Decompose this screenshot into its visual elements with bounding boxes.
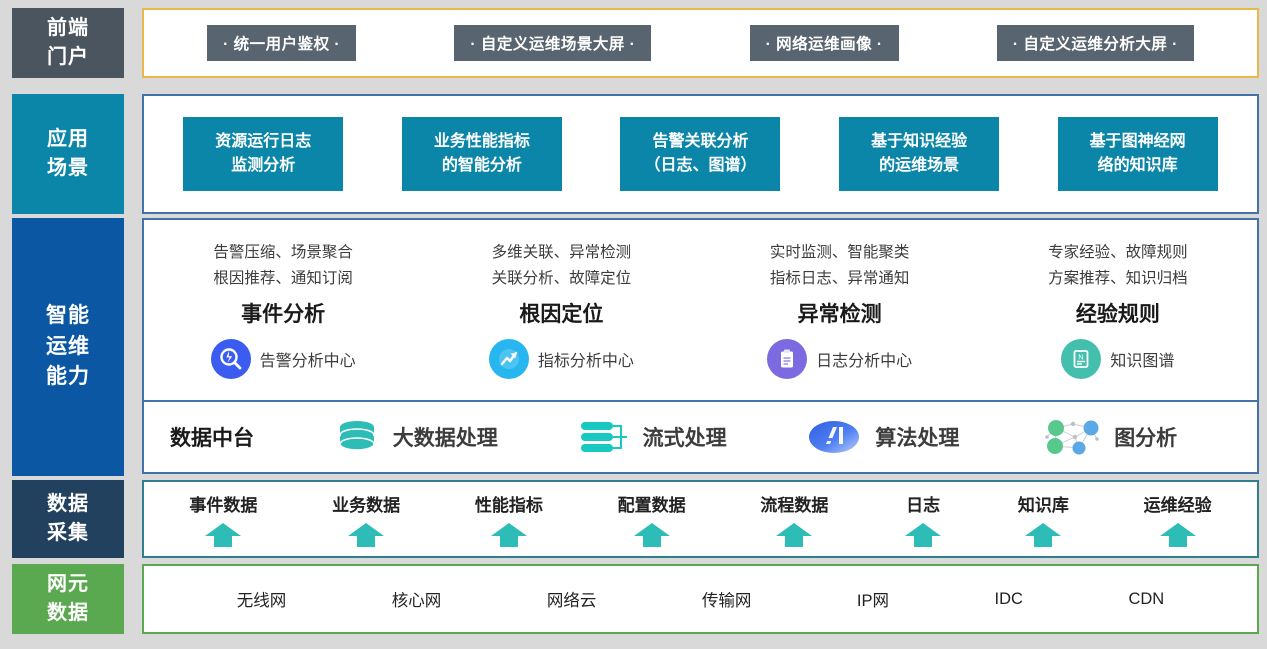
app-chip-resource-log[interactable]: 资源运行日志 监测分析 bbox=[183, 117, 343, 191]
collection-item-process-data-label: 流程数据 bbox=[760, 491, 828, 516]
network-element-label-line1: 网元 bbox=[47, 570, 89, 599]
ne-item-idc[interactable]: IDC bbox=[995, 590, 1023, 609]
up-arrow-icon bbox=[203, 522, 243, 548]
ai-icon bbox=[806, 417, 862, 457]
ops-col4-center-label: 知识图谱 bbox=[1110, 347, 1174, 371]
dmp-item-algorithm[interactable]: 算法处理 bbox=[806, 417, 959, 457]
ops-col4-title: 经验规则 bbox=[1076, 298, 1160, 328]
app-chip-resource-log-line1: 资源运行日志 bbox=[215, 130, 311, 154]
dmp-item-stream[interactable]: 流式处理 bbox=[578, 418, 727, 456]
data-middle-platform-title: 数据中台 bbox=[170, 422, 254, 452]
ops-col2-center[interactable]: 指标分析中心 bbox=[489, 339, 634, 379]
network-element-panel: 无线网 核心网 网络云 传输网 IP网 IDC CDN bbox=[142, 564, 1259, 634]
network-element-label-line2: 数据 bbox=[47, 599, 89, 628]
architecture-diagram: 前端 门户 · 统一用户鉴权 · · 自定义运维场景大屏 · · 网络运维画像 … bbox=[0, 0, 1267, 649]
stream-icon bbox=[578, 418, 630, 456]
data-collection-row: 数据 采集 事件数据 业务数据 性能指标 配置数据 流程数据 bbox=[12, 480, 1259, 558]
ops-col4-center[interactable]: N 知识图谱 bbox=[1061, 339, 1174, 379]
intelligent-ops-row: 智能 运维 能力 告警压缩、场景聚合 根因推荐、通知订阅 事件分析 bbox=[12, 218, 1259, 476]
ops-label-line3: 能力 bbox=[46, 362, 90, 392]
ops-col3-center[interactable]: 日志分析中心 bbox=[767, 339, 912, 379]
collection-item-knowledge-base-label: 知识库 bbox=[1018, 491, 1069, 516]
ne-item-ip-network[interactable]: IP网 bbox=[857, 587, 889, 611]
collection-item-business-data[interactable]: 业务数据 bbox=[332, 491, 400, 548]
up-arrow-icon bbox=[903, 522, 943, 548]
up-arrow-icon bbox=[632, 522, 672, 548]
log-analysis-icon bbox=[767, 339, 807, 379]
collection-item-business-data-label: 业务数据 bbox=[332, 491, 400, 516]
alert-analysis-icon bbox=[211, 339, 251, 379]
collection-item-ops-experience-label: 运维经验 bbox=[1144, 491, 1212, 516]
collection-label-line1: 数据 bbox=[47, 490, 89, 519]
up-arrow-icon bbox=[774, 522, 814, 548]
svg-text:N: N bbox=[1079, 353, 1084, 362]
front-portal-row: 前端 门户 · 统一用户鉴权 · · 自定义运维场景大屏 · · 网络运维画像 … bbox=[12, 8, 1259, 78]
up-arrow-icon bbox=[1023, 522, 1063, 548]
ops-col1-center[interactable]: 告警分析中心 bbox=[211, 339, 356, 379]
application-scenario-row: 应用 场景 资源运行日志 监测分析 业务性能指标 的智能分析 告警关联分析 （日… bbox=[12, 94, 1259, 214]
dmp-item-big-data-label: 大数据处理 bbox=[393, 422, 498, 452]
app-chip-business-performance[interactable]: 业务性能指标 的智能分析 bbox=[402, 117, 562, 191]
data-collection-label: 数据 采集 bbox=[12, 480, 124, 558]
ne-item-transmission[interactable]: 传输网 bbox=[702, 587, 752, 611]
collection-item-process-data[interactable]: 流程数据 bbox=[760, 491, 828, 548]
collection-item-performance-metric-label: 性能指标 bbox=[475, 491, 543, 516]
dmp-item-graph-analysis[interactable]: 图分析 bbox=[1039, 415, 1177, 459]
collection-item-performance-metric[interactable]: 性能指标 bbox=[475, 491, 543, 548]
ops-col1-line2: 根因推荐、通知订阅 bbox=[213, 266, 353, 292]
ops-col2-title: 根因定位 bbox=[519, 298, 603, 328]
app-chip-business-performance-line2: 的智能分析 bbox=[442, 154, 522, 178]
dmp-item-big-data[interactable]: 大数据处理 bbox=[334, 419, 498, 455]
ops-col2-line2: 关联分析、故障定位 bbox=[492, 266, 632, 292]
ne-item-core[interactable]: 核心网 bbox=[392, 587, 442, 611]
up-arrow-icon bbox=[489, 522, 529, 548]
app-chip-alarm-correlation-line1: 告警关联分析 bbox=[652, 130, 748, 154]
ops-label-line2: 运维 bbox=[46, 332, 90, 362]
data-collection-panel: 事件数据 业务数据 性能指标 配置数据 流程数据 日志 bbox=[142, 480, 1259, 558]
ops-col3-line1: 实时监测、智能聚类 bbox=[770, 240, 910, 266]
ops-col4-line2: 方案推荐、知识归档 bbox=[1048, 266, 1188, 292]
metric-analysis-icon bbox=[489, 339, 529, 379]
collection-label-line2: 采集 bbox=[47, 519, 89, 548]
collection-item-log[interactable]: 日志 bbox=[903, 491, 943, 548]
app-chip-knowledge-experience[interactable]: 基于知识经验 的运维场景 bbox=[839, 117, 999, 191]
ops-column-event-analysis: 告警压缩、场景聚合 根因推荐、通知订阅 事件分析 告警分析中心 bbox=[144, 220, 422, 400]
ops-column-anomaly-detection: 实时监测、智能聚类 指标日志、异常通知 异常检测 bbox=[701, 220, 979, 400]
dmp-item-graph-analysis-label: 图分析 bbox=[1114, 422, 1177, 452]
app-chip-graph-neural-network[interactable]: 基于图神经网 络的知识库 bbox=[1058, 117, 1218, 191]
dmp-item-stream-label: 流式处理 bbox=[643, 422, 727, 452]
ops-col2-line1: 多维关联、异常检测 bbox=[492, 240, 632, 266]
portal-chip-custom-analysis-screen[interactable]: · 自定义运维分析大屏 · bbox=[997, 25, 1194, 61]
portal-chip-custom-ops-screen[interactable]: · 自定义运维场景大屏 · bbox=[454, 25, 651, 61]
ops-col4-line1: 专家经验、故障规则 bbox=[1048, 240, 1188, 266]
ops-label-line1: 智能 bbox=[46, 301, 90, 331]
ops-column-root-cause: 多维关联、异常检测 关联分析、故障定位 根因定位 指标分析中心 bbox=[422, 220, 700, 400]
dmp-item-algorithm-label: 算法处理 bbox=[875, 422, 959, 452]
app-chip-resource-log-line2: 监测分析 bbox=[231, 154, 295, 178]
app-chip-alarm-correlation[interactable]: 告警关联分析 （日志、图谱） bbox=[620, 117, 780, 191]
ops-column-experience-rules: 专家经验、故障规则 方案推荐、知识归档 经验规则 N 知识图谱 bbox=[979, 220, 1257, 400]
ops-col3-title: 异常检测 bbox=[798, 298, 882, 328]
application-scenario-label: 应用 场景 bbox=[12, 94, 124, 214]
front-portal-label: 前端 门户 bbox=[12, 8, 124, 78]
graph-network-icon bbox=[1039, 415, 1101, 459]
app-chip-knowledge-experience-line2: 的运维场景 bbox=[879, 154, 959, 178]
app-chip-knowledge-experience-line1: 基于知识经验 bbox=[871, 130, 967, 154]
app-chip-alarm-correlation-line2: （日志、图谱） bbox=[644, 154, 756, 178]
ne-item-wireless[interactable]: 无线网 bbox=[237, 587, 287, 611]
database-icon bbox=[334, 419, 380, 455]
intelligent-ops-content: 告警压缩、场景聚合 根因推荐、通知订阅 事件分析 告警分析中心 bbox=[142, 218, 1259, 476]
knowledge-graph-icon: N bbox=[1061, 339, 1101, 379]
application-label-line1: 应用 bbox=[47, 125, 89, 154]
up-arrow-icon bbox=[1158, 522, 1198, 548]
front-portal-label-line1: 前端 bbox=[47, 14, 89, 43]
ne-item-network-cloud[interactable]: 网络云 bbox=[547, 587, 597, 611]
collection-item-log-label: 日志 bbox=[906, 491, 940, 516]
ne-item-cdn[interactable]: CDN bbox=[1128, 590, 1164, 609]
collection-item-ops-experience[interactable]: 运维经验 bbox=[1144, 491, 1212, 548]
app-chip-graph-neural-network-line2: 络的知识库 bbox=[1098, 154, 1178, 178]
app-chip-business-performance-line1: 业务性能指标 bbox=[434, 130, 530, 154]
portal-chip-auth[interactable]: · 统一用户鉴权 · bbox=[207, 25, 356, 61]
network-element-label: 网元 数据 bbox=[12, 564, 124, 634]
ops-col1-title: 事件分析 bbox=[241, 298, 325, 328]
application-scenario-panel: 资源运行日志 监测分析 业务性能指标 的智能分析 告警关联分析 （日志、图谱） … bbox=[142, 94, 1259, 214]
data-middle-platform-panel: 数据中台 大数据处理 bbox=[142, 402, 1259, 474]
collection-item-config-data[interactable]: 配置数据 bbox=[618, 491, 686, 548]
ops-col1-center-label: 告警分析中心 bbox=[260, 347, 356, 371]
network-element-row: 网元 数据 无线网 核心网 网络云 传输网 IP网 IDC CDN bbox=[12, 564, 1259, 634]
up-arrow-icon bbox=[346, 522, 386, 548]
intelligent-ops-label: 智能 运维 能力 bbox=[12, 218, 124, 476]
intelligent-ops-panel: 告警压缩、场景聚合 根因推荐、通知订阅 事件分析 告警分析中心 bbox=[142, 218, 1259, 402]
collection-item-event-data-label: 事件数据 bbox=[189, 491, 257, 516]
front-portal-label-line2: 门户 bbox=[47, 43, 89, 72]
application-label-line2: 场景 bbox=[47, 154, 89, 183]
ops-col1-line1: 告警压缩、场景聚合 bbox=[213, 240, 353, 266]
ops-col3-line2: 指标日志、异常通知 bbox=[770, 266, 910, 292]
portal-chip-network-ops-profile[interactable]: · 网络运维画像 · bbox=[750, 25, 899, 61]
collection-item-event-data[interactable]: 事件数据 bbox=[189, 491, 257, 548]
ops-col3-center-label: 日志分析中心 bbox=[816, 347, 912, 371]
collection-item-knowledge-base[interactable]: 知识库 bbox=[1018, 491, 1069, 548]
collection-item-config-data-label: 配置数据 bbox=[618, 491, 686, 516]
app-chip-graph-neural-network-line1: 基于图神经网 bbox=[1090, 130, 1186, 154]
front-portal-panel: · 统一用户鉴权 · · 自定义运维场景大屏 · · 网络运维画像 · · 自定… bbox=[142, 8, 1259, 78]
ops-col2-center-label: 指标分析中心 bbox=[538, 347, 634, 371]
